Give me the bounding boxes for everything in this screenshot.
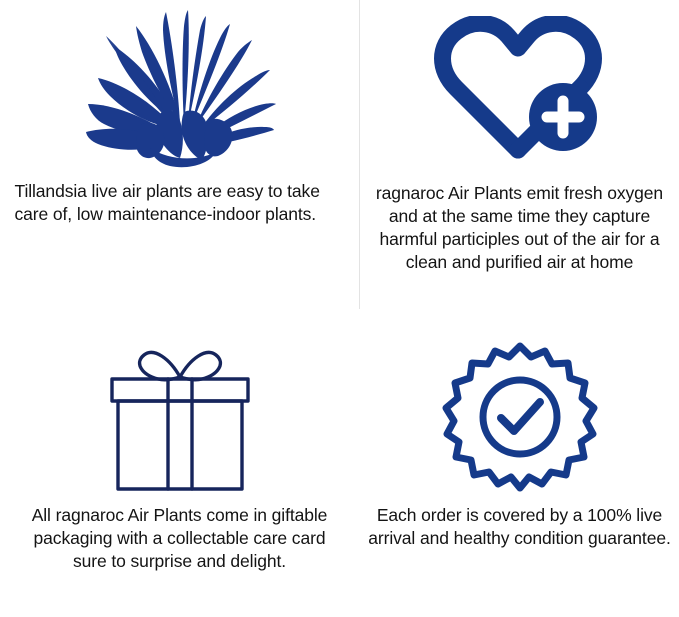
gift-box-icon xyxy=(90,337,270,497)
feature-panel-air-plant-care: Tillandsia live air plants are easy to t… xyxy=(0,0,359,309)
feature-panel-live-arrival-guarantee: Each order is covered by a 100% live arr… xyxy=(359,309,679,617)
guarantee-badge-icon xyxy=(440,338,600,496)
gift-box-icon-wrap xyxy=(0,309,359,504)
guarantee-badge-icon-wrap xyxy=(360,309,679,504)
heart-plus-icon xyxy=(432,16,608,166)
feature-panel-giftable-packaging: All ragnaroc Air Plants come in giftable… xyxy=(0,309,359,617)
panel-caption: All ragnaroc Air Plants come in giftable… xyxy=(16,504,344,573)
panel-caption: Each order is covered by a 100% live arr… xyxy=(362,504,678,550)
feature-grid: Tillandsia live air plants are easy to t… xyxy=(0,0,679,617)
panel-caption: ragnaroc Air Plants emit fresh oxygen an… xyxy=(361,182,679,274)
air-plant-icon-wrap xyxy=(0,0,359,180)
panel-caption: Tillandsia live air plants are easy to t… xyxy=(10,180,350,226)
air-plant-icon xyxy=(80,8,280,173)
heart-plus-icon-wrap xyxy=(360,0,679,182)
feature-panel-oxygen-health: ragnaroc Air Plants emit fresh oxygen an… xyxy=(359,0,679,309)
